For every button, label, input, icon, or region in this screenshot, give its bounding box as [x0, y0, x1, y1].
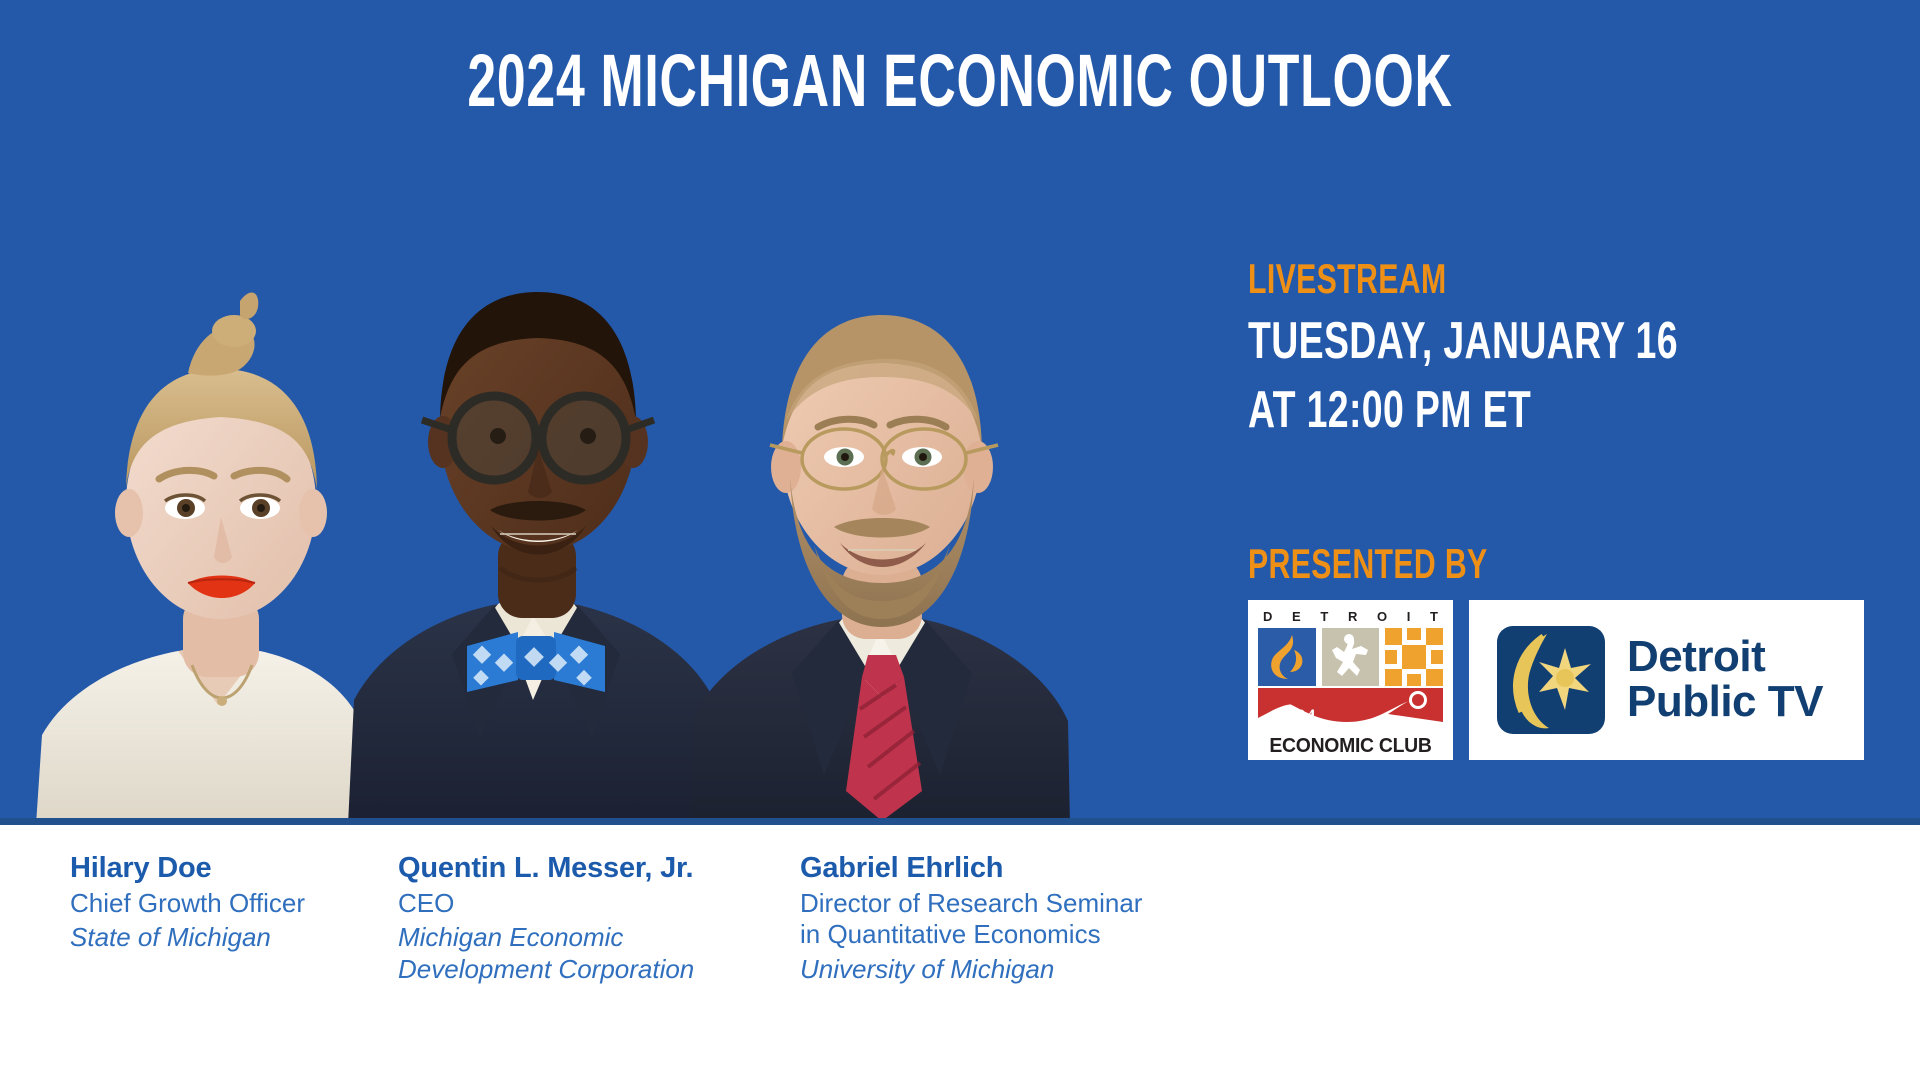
dec-name-line: ECONOMIC CLUB	[1261, 736, 1440, 756]
dec-letter: I	[1407, 609, 1411, 624]
dec-flame-icon	[1258, 628, 1316, 686]
dec-letter: T	[1320, 609, 1328, 624]
dec-cross-pattern-icon	[1385, 628, 1443, 686]
dec-wave-graphic: 1934	[1258, 688, 1443, 736]
dptv-sunburst-icon	[1495, 624, 1607, 736]
speaker-block-2: Quentin L. Messer, Jr. CEO Michigan Econ…	[398, 851, 738, 985]
detroit-economic-club-logo: D E T R O I T	[1248, 600, 1453, 760]
portrait-speaker-1	[28, 265, 368, 825]
dptv-wordmark: Detroit Public TV	[1627, 635, 1823, 725]
speaker-title: Chief Growth Officer	[70, 888, 370, 919]
sponsor-logos: D E T R O I T	[1248, 600, 1864, 760]
speaker-name: Quentin L. Messer, Jr.	[398, 851, 738, 885]
dec-letter: R	[1348, 609, 1357, 624]
speakers-footer: Hilary Doe Chief Growth Officer State of…	[0, 825, 1920, 1080]
dec-letter: O	[1377, 609, 1387, 624]
portrait-speaker-2	[348, 180, 718, 825]
page-title: 2024 MICHIGAN ECONOMIC OUTLOOK	[288, 44, 1632, 118]
dec-emblem-tiles	[1258, 628, 1443, 686]
speaker-org: State of Michigan	[70, 922, 370, 953]
hero-panel: 2024 MICHIGAN ECONOMIC OUTLOOK	[0, 0, 1920, 825]
dec-detroit-wordmark: D E T R O I T	[1258, 609, 1443, 628]
dec-year: 1934	[1276, 706, 1316, 727]
portrait-speaker-3	[690, 215, 1070, 825]
speaker-title: Director of Research Seminarin Quantitat…	[800, 888, 1220, 950]
speaker-org: University of Michigan	[800, 954, 1220, 985]
event-time: AT 12:00 PM ET	[1248, 383, 1709, 438]
event-date: TUESDAY, JANUARY 16	[1248, 314, 1709, 369]
presented-by-label: PRESENTED BY	[1248, 543, 1709, 585]
detroit-public-tv-logo: Detroit Public TV	[1469, 600, 1864, 760]
speaker-block-3: Gabriel Ehrlich Director of Research Sem…	[800, 851, 1220, 985]
speaker-org: Michigan EconomicDevelopment Corporation	[398, 922, 738, 984]
dec-letter: T	[1430, 609, 1438, 624]
dptv-line-1: Detroit	[1627, 635, 1823, 680]
dptv-line-2: Public TV	[1627, 680, 1823, 725]
dec-letter: E	[1292, 609, 1301, 624]
speaker-title: CEO	[398, 888, 738, 919]
panel-divider	[0, 818, 1920, 825]
dec-letter: D	[1263, 609, 1272, 624]
speaker-block-1: Hilary Doe Chief Growth Officer State of…	[70, 851, 370, 954]
event-details: LIVESTREAM TUESDAY, JANUARY 16 AT 12:00 …	[1248, 258, 1888, 438]
dec-spirit-of-detroit-icon	[1322, 628, 1380, 686]
livestream-kicker: LIVESTREAM	[1248, 258, 1709, 300]
speaker-name: Hilary Doe	[70, 851, 370, 885]
presented-by-section: PRESENTED BY	[1248, 543, 1888, 585]
speaker-name: Gabriel Ehrlich	[800, 851, 1220, 885]
